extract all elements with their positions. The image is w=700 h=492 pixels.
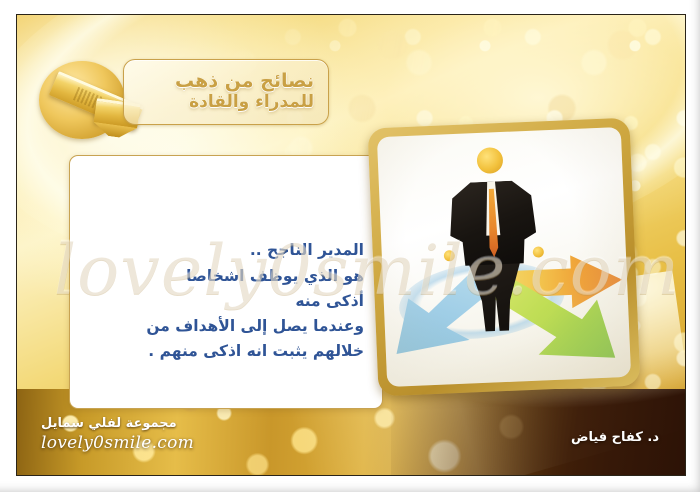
- quote-box: المدير الناجح .. هو الذي يوظف اشخاصا أذك…: [69, 155, 383, 409]
- photo-image: [377, 127, 631, 387]
- title-line-1: نصائح من ذهب: [175, 70, 314, 92]
- photo-card: [368, 118, 641, 397]
- footer-site-url: lovely0smile.com: [41, 433, 194, 453]
- quote-text: المدير الناجح .. هو الذي يوظف اشخاصا أذك…: [86, 238, 364, 364]
- title-line-2: للمدراء والقادة: [189, 92, 314, 112]
- poster-card: نصائح من ذهب للمدراء والقادة المدير النا…: [16, 14, 686, 476]
- footer-left: مجموعة لفلي سمايل lovely0smile.com: [41, 416, 194, 453]
- title-badge: نصائح من ذهب للمدراء والقادة: [123, 59, 329, 125]
- photo-vignette: [377, 127, 631, 387]
- footer-author: د. كفاح فياض: [571, 430, 659, 445]
- footer-group-name: مجموعة لفلي سمايل: [41, 416, 194, 431]
- header: نصائح من ذهب للمدراء والقادة: [39, 53, 329, 139]
- poster: نصائح من ذهب للمدراء والقادة المدير النا…: [0, 0, 700, 492]
